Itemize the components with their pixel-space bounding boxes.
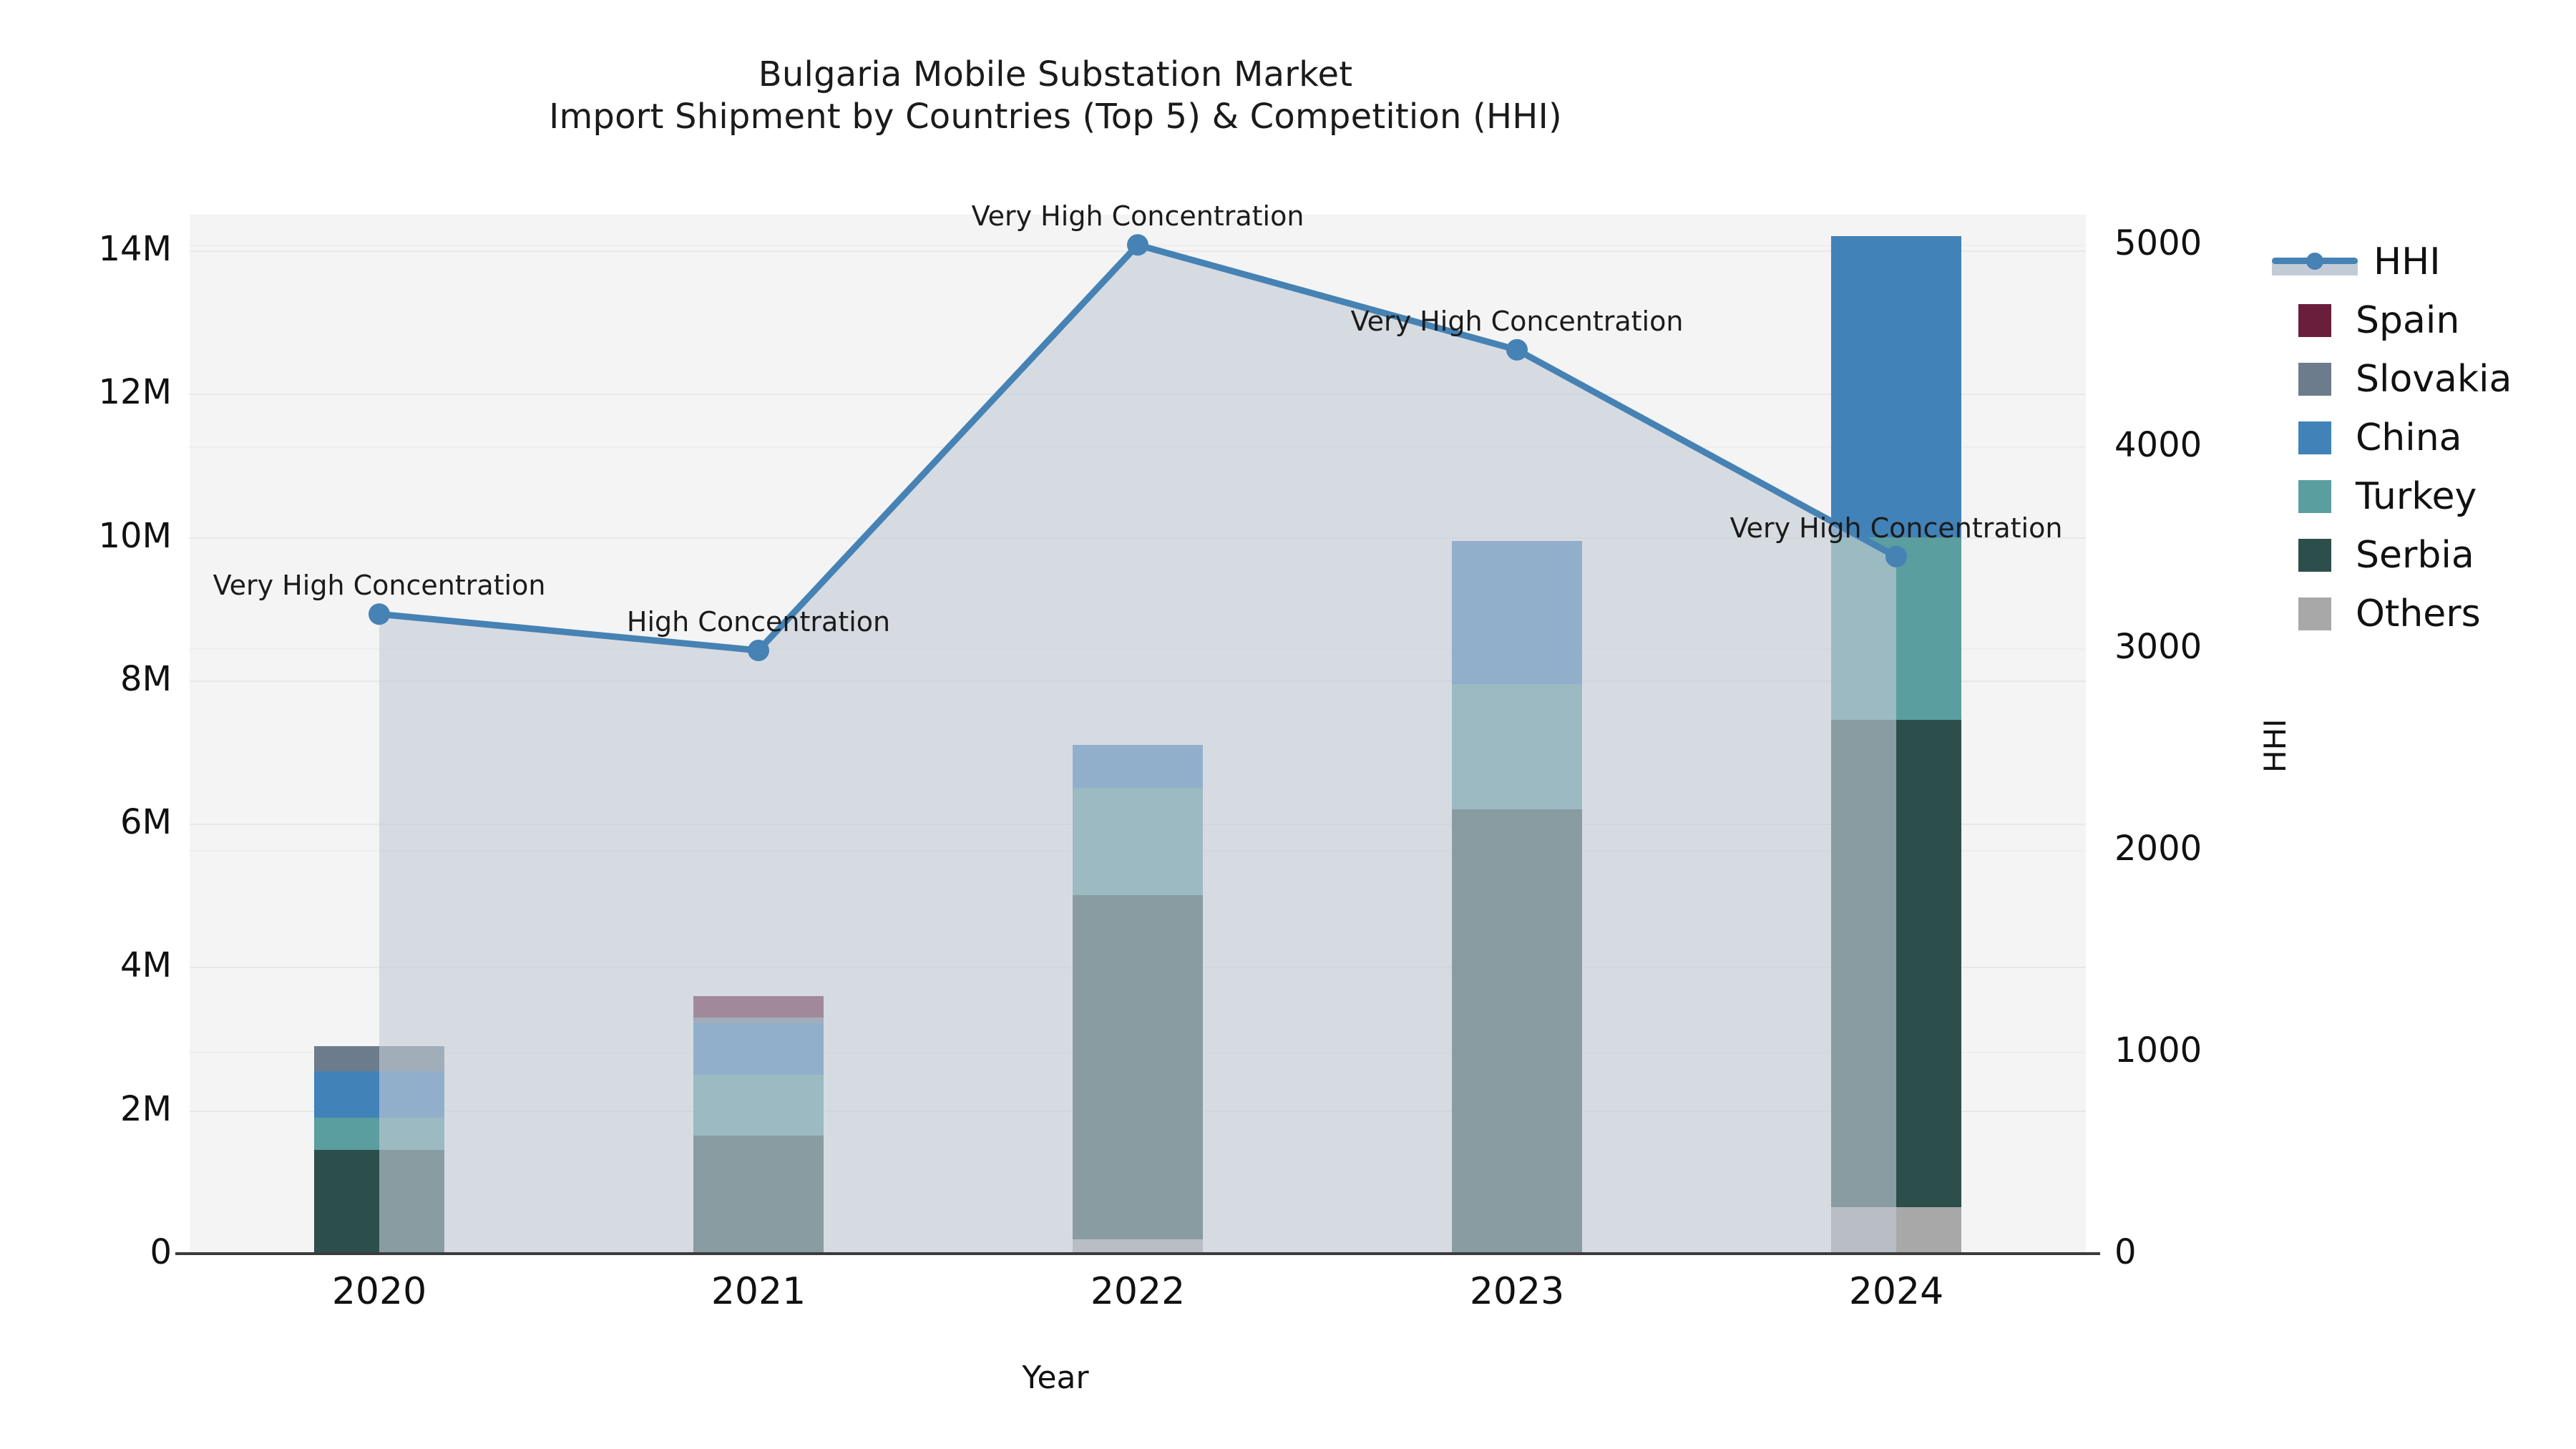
hhi-annotation: High Concentration [627,606,890,638]
y-tick-left-label: 8M [7,659,172,699]
y-tick-right-label: 4000 [2114,425,2202,465]
hhi-line-layer [190,215,2086,1254]
y-tick-left-label: 12M [7,372,172,412]
y-tick-left-label: 0 [7,1232,172,1272]
hhi-point-marker[interactable] [748,640,769,661]
legend-item-hhi[interactable]: HHI [2272,233,2512,291]
legend-item-label: Turkey [2356,478,2477,515]
x-tick-label-2022: 2022 [1030,1270,1245,1313]
legend-item-spain[interactable]: Spain [2272,291,2512,350]
y-tick-right-label: 0 [2114,1232,2137,1272]
legend-color-swatch [2298,539,2331,572]
chart-title: Bulgaria Mobile Substation Market Import… [0,54,2111,137]
y-tick-right-label: 1000 [2114,1030,2202,1070]
legend-item-others[interactable]: Others [2272,585,2512,643]
y-tick-right-label: 2000 [2114,829,2202,869]
y-tick-left-label: 4M [7,945,172,985]
legend-color-swatch [2298,421,2331,454]
legend-item-turkey[interactable]: Turkey [2272,467,2512,526]
legend-color-swatch [2298,480,2331,513]
x-tick-label-2021: 2021 [651,1270,866,1313]
hhi-area-fill [379,245,1896,1254]
legend-item-label: Slovakia [2356,361,2512,398]
y-tick-left-label: 10M [7,516,172,556]
legend-item-china[interactable]: China [2272,409,2512,467]
y-axis-right-label: HHI [2258,718,2293,773]
chart-title-line-2: Import Shipment by Countries (Top 5) & C… [0,96,2111,138]
legend-color-swatch [2298,304,2331,337]
x-axis-label: Year [0,1360,2111,1396]
hhi-point-marker[interactable] [1127,234,1148,255]
y-tick-right-label: 3000 [2114,627,2202,667]
legend-item-label: China [2356,419,2462,457]
hhi-point-marker[interactable] [1885,546,1907,567]
legend-item-label: Spain [2356,302,2459,339]
y-tick-right-label: 5000 [2114,223,2202,263]
x-tick-label-2023: 2023 [1410,1270,1624,1313]
hhi-point-marker[interactable] [369,603,390,625]
y-tick-left-label: 6M [7,802,172,842]
legend-item-label: Serbia [2356,537,2474,574]
y-tick-left-label: 14M [7,229,172,269]
hhi-annotation: Very High Concentration [213,570,546,601]
plot-area: Very High ConcentrationHigh Concentratio… [190,215,2086,1254]
legend-line-dot [2306,253,2323,270]
legend-item-serbia[interactable]: Serbia [2272,526,2512,585]
y-tick-left-label: 2M [7,1089,172,1129]
legend-color-swatch [2298,363,2331,396]
chart-canvas: Bulgaria Mobile Substation Market Import… [0,0,2576,1449]
chart-title-line-1: Bulgaria Mobile Substation Market [0,54,2111,96]
legend-item-label: Others [2356,595,2481,633]
legend: HHISpainSlovakiaChinaTurkeySerbiaOthers [2272,233,2512,643]
x-tick-label-2024: 2024 [1789,1270,2004,1313]
hhi-point-marker[interactable] [1506,339,1528,361]
legend-item-slovakia[interactable]: Slovakia [2272,350,2512,409]
hhi-annotation: Very High Concentration [972,200,1304,232]
hhi-annotation: Very High Concentration [1730,512,2063,544]
legend-color-swatch [2298,597,2331,630]
legend-line-swatch [2272,245,2358,278]
legend-item-label: HHI [2373,243,2441,280]
hhi-annotation: Very High Concentration [1351,306,1684,337]
x-axis-line [175,1252,2100,1255]
x-tick-label-2020: 2020 [272,1270,487,1313]
